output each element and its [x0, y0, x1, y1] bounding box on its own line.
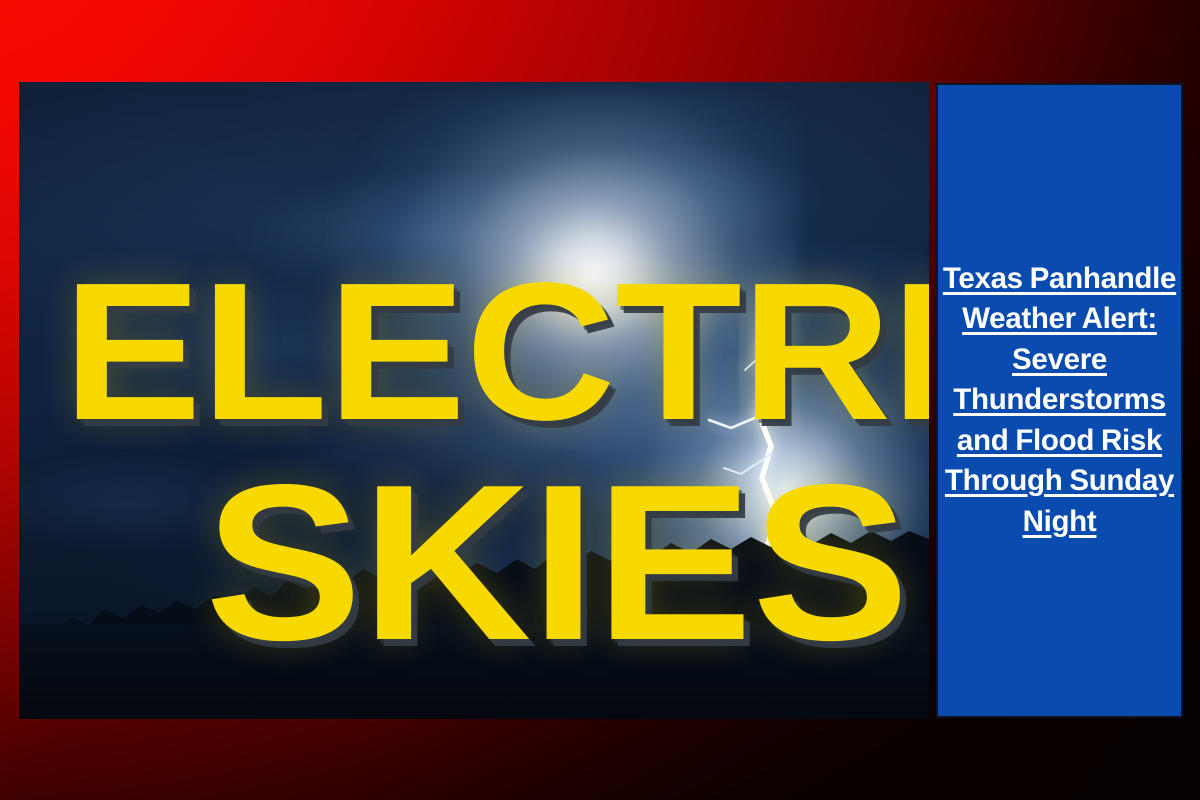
alert-headline[interactable]: Texas Panhandle Weather Alert: Severe Th…	[942, 259, 1177, 543]
poster-canvas: ELECTRIC SKIES Texas Panhandle Weather A…	[0, 0, 1200, 800]
alert-panel[interactable]: Texas Panhandle Weather Alert: Severe Th…	[936, 83, 1183, 718]
storm-photo: ELECTRIC SKIES	[19, 82, 929, 719]
poster-title-line-2: SKIES	[205, 468, 909, 659]
poster-title-line-1: ELECTRIC	[63, 268, 929, 437]
